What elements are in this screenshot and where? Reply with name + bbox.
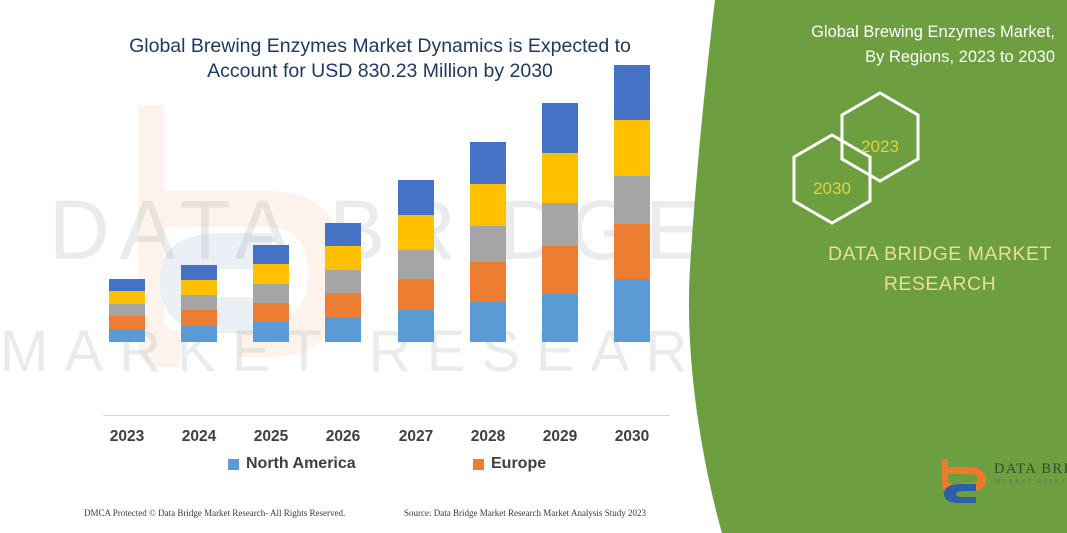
bar-segment xyxy=(325,293,361,317)
legend-label: North America xyxy=(246,455,356,473)
bar-segment xyxy=(181,280,217,295)
x-axis-label-2028: 2028 xyxy=(453,428,523,446)
x-axis-label-2030: 2030 xyxy=(597,428,667,446)
brand-name: DATA BRIDGE MARKET RESEARCH xyxy=(815,239,1065,299)
bar-segment xyxy=(253,264,289,284)
bar-group xyxy=(325,223,361,342)
hexagon-2023-label: 2023 xyxy=(837,137,923,157)
brand-line-1: DATA BRIDGE MARKET xyxy=(828,243,1052,265)
bar-segment xyxy=(181,295,217,310)
bar-group xyxy=(181,265,217,342)
bar-segment xyxy=(542,153,578,203)
footer-copyright: DMCA Protected © Data Bridge Market Rese… xyxy=(84,508,345,518)
bar-group xyxy=(253,245,289,342)
data-bridge-logo-icon xyxy=(938,457,990,507)
bar-segment xyxy=(253,303,289,322)
footer-source: Source: Data Bridge Market Research Mark… xyxy=(404,508,646,518)
brand-line-2: RESEARCH xyxy=(884,273,996,295)
bar-segment xyxy=(470,262,506,302)
bar-segment xyxy=(470,184,506,226)
green-panel-content: Global Brewing Enzymes Market, By Region… xyxy=(720,0,1067,533)
bar-segment xyxy=(542,203,578,246)
x-axis-label-2023: 2023 xyxy=(92,428,162,446)
bar-segment xyxy=(470,302,506,342)
hexagon-badges: 2023 2030 xyxy=(775,85,1045,205)
bar-group xyxy=(542,103,578,342)
chart-legend: North AmericaEurope xyxy=(103,455,670,481)
legend-swatch-icon xyxy=(473,459,484,470)
bar-segment xyxy=(325,223,361,246)
x-axis-label-2025: 2025 xyxy=(236,428,306,446)
bar-segment xyxy=(398,310,434,342)
bar-segment xyxy=(398,250,434,279)
stacked-bar-chart: 20232024202520262027202820292030 North A… xyxy=(0,0,700,460)
infographic-root: DATA BRIDGE MARKET RESEARCH Global Brewi… xyxy=(0,0,1067,533)
bar-group xyxy=(109,279,145,342)
bar-segment xyxy=(470,142,506,184)
x-axis-labels: 20232024202520262027202820292030 xyxy=(103,428,670,452)
bar-segment xyxy=(398,279,434,310)
bar-segment xyxy=(614,224,650,279)
bar-segment xyxy=(325,246,361,270)
x-axis-label-2024: 2024 xyxy=(164,428,234,446)
green-side-panel: Global Brewing Enzymes Market, By Region… xyxy=(660,0,1067,533)
bar-group xyxy=(398,180,434,342)
x-axis-label-2029: 2029 xyxy=(525,428,595,446)
bar-group xyxy=(470,142,506,342)
bar-segment xyxy=(109,316,145,329)
bar-segment xyxy=(614,120,650,176)
bar-segment xyxy=(614,65,650,120)
hexagon-2030-label: 2030 xyxy=(789,179,875,199)
bar-segment xyxy=(614,279,650,342)
bar-segment xyxy=(253,245,289,264)
legend-item[interactable]: Europe xyxy=(473,455,546,473)
bar-segment xyxy=(398,215,434,250)
bar-segment xyxy=(253,322,289,342)
logo-tagline-text: MARKET RESEARCH xyxy=(995,479,1067,485)
bar-segment xyxy=(398,180,434,215)
legend-label: Europe xyxy=(491,455,546,473)
logo-name-text: DATA BRIDGE xyxy=(994,461,1067,478)
bar-segment xyxy=(542,294,578,342)
hexagon-shapes xyxy=(775,85,1045,235)
bar-segment xyxy=(542,103,578,153)
data-bridge-logo: DATA BRIDGE MARKET RESEARCH xyxy=(938,455,1067,510)
legend-item[interactable]: North America xyxy=(228,455,356,473)
x-axis-label-2026: 2026 xyxy=(308,428,378,446)
footer: DMCA Protected © Data Bridge Market Rese… xyxy=(84,508,684,524)
bar-segment xyxy=(181,265,217,280)
bar-segment xyxy=(181,326,217,342)
bar-segment xyxy=(109,304,145,316)
bar-segment xyxy=(470,226,506,262)
bar-segment xyxy=(109,329,145,342)
bar-group xyxy=(614,65,650,342)
bar-segment xyxy=(325,270,361,293)
bar-segment xyxy=(253,284,289,303)
panel-title: Global Brewing Enzymes Market, By Region… xyxy=(805,20,1055,70)
x-axis-line xyxy=(103,415,670,416)
bar-segment xyxy=(109,279,145,291)
x-axis-label-2027: 2027 xyxy=(381,428,451,446)
bar-segment xyxy=(109,291,145,304)
legend-swatch-icon xyxy=(228,459,239,470)
bar-segment xyxy=(542,246,578,294)
bar-segment xyxy=(181,310,217,326)
bar-segment xyxy=(614,176,650,224)
bar-segment xyxy=(325,317,361,342)
